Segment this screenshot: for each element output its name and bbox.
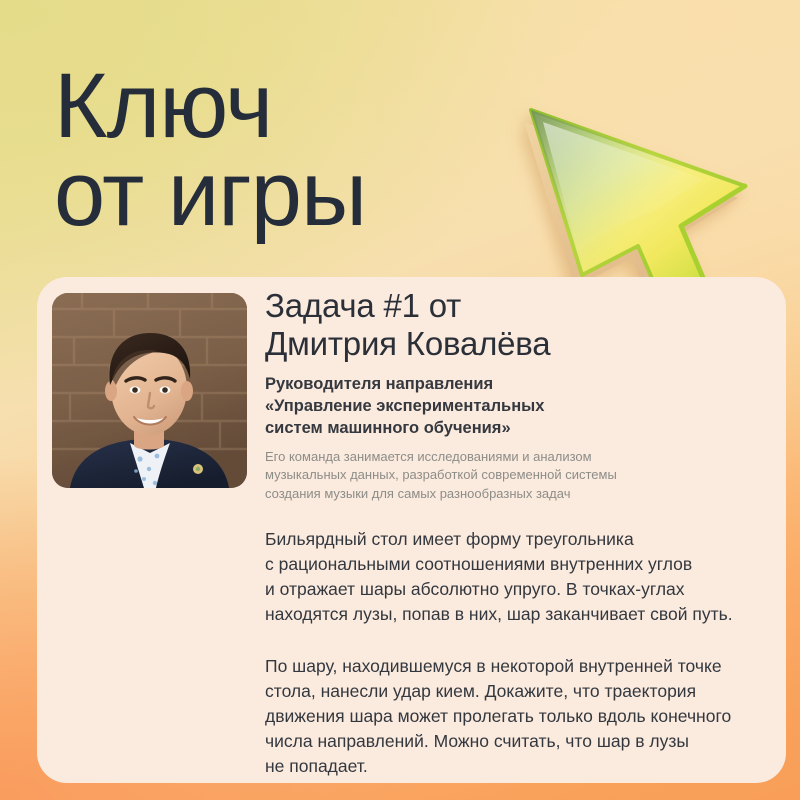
- task-heading: Задача #1 от Дмитрия Ковалёва: [265, 287, 768, 364]
- task-paragraph-2: По шару, находившемуся в некоторой внутр…: [265, 654, 764, 778]
- poster-canvas: Ключ от игры: [0, 0, 800, 800]
- poster-title: Ключ от игры: [54, 62, 494, 239]
- task-card: Задача #1 от Дмитрия Ковалёва Руководите…: [37, 277, 786, 783]
- speaker-note: Его команда занимается исследованиями и …: [265, 448, 768, 503]
- speaker-info: Задача #1 от Дмитрия Ковалёва Руководите…: [265, 287, 768, 503]
- task-body: Бильярдный стол имеет форму треугольника…: [265, 527, 764, 779]
- speaker-role: Руководителя направления «Управление экс…: [265, 373, 768, 439]
- task-paragraph-1: Бильярдный стол имеет форму треугольника…: [265, 527, 764, 626]
- speaker-photo: [52, 293, 247, 488]
